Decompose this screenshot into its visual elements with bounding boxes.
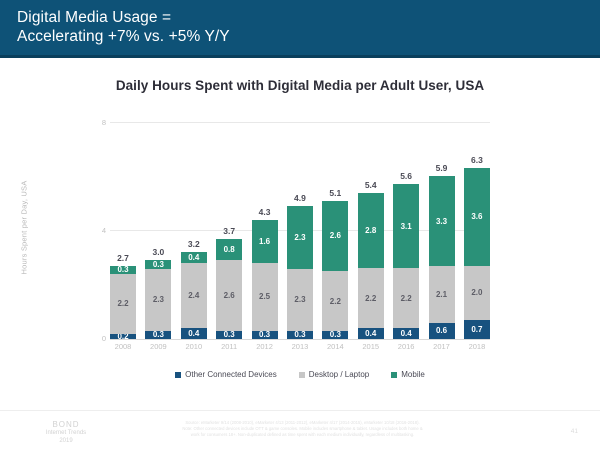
bar-column-2012[interactable]: 4.31.62.50.3 bbox=[252, 113, 278, 339]
bar-segment-other[interactable]: 0.3 bbox=[216, 331, 242, 339]
x-axis-tick-2009: 2009 bbox=[145, 342, 171, 351]
bar-column-2011[interactable]: 3.70.82.60.3 bbox=[216, 113, 242, 339]
chart-plot-area: Hours Spent per Day, USA 8 4 0 2.70.32.2… bbox=[0, 113, 600, 363]
y-tick-4: 4 bbox=[88, 226, 106, 235]
segment-value-label: 3.3 bbox=[436, 217, 447, 226]
footer-divider bbox=[0, 410, 600, 411]
bar-segment-other[interactable]: 0.7 bbox=[464, 320, 490, 339]
segment-value-label: 0.6 bbox=[436, 326, 447, 335]
bar-segment-mobile[interactable]: 3.6 bbox=[464, 168, 490, 266]
segment-value-label: 2.8 bbox=[365, 226, 376, 235]
bar-segment-mobile[interactable]: 3.3 bbox=[429, 176, 455, 266]
bar-segment-other[interactable]: 0.3 bbox=[287, 331, 313, 339]
bar-segment-other[interactable]: 0.3 bbox=[322, 331, 348, 339]
brand-logo: BOND Internet Trends 2019 bbox=[14, 421, 118, 445]
segment-value-label: 0.3 bbox=[153, 331, 164, 339]
x-axis-tick-2014: 2014 bbox=[322, 342, 348, 351]
y-axis-label: Hours Spent per Day, USA bbox=[20, 168, 29, 288]
x-axis-tick-2017: 2017 bbox=[429, 342, 455, 351]
bar-column-2008[interactable]: 2.70.32.20.2 bbox=[110, 113, 136, 339]
page-number: 41 bbox=[571, 428, 578, 435]
segment-value-label: 2.5 bbox=[259, 292, 270, 301]
bar-segment-other[interactable]: 0.4 bbox=[181, 328, 207, 339]
slide-title: Digital Media Usage = Accelerating +7% v… bbox=[17, 8, 230, 46]
bar-segment-desktop[interactable]: 2.2 bbox=[393, 268, 419, 328]
note-line-2: work for consumers 18+. Non-duplicated d… bbox=[130, 432, 475, 438]
segment-value-label: 3.6 bbox=[471, 212, 482, 221]
bar-segment-desktop[interactable]: 2.6 bbox=[216, 260, 242, 331]
bar-total-label: 3.7 bbox=[208, 226, 250, 236]
bar-group: 2.70.32.20.23.00.32.30.33.20.42.40.43.70… bbox=[110, 113, 490, 339]
chart-title: Daily Hours Spent with Digital Media per… bbox=[0, 78, 600, 93]
bar-segment-desktop[interactable]: 2.4 bbox=[181, 263, 207, 328]
segment-value-label: 0.4 bbox=[188, 329, 199, 338]
bar-segment-mobile[interactable]: 3.1 bbox=[393, 184, 419, 268]
segment-value-label: 2.1 bbox=[436, 290, 447, 299]
x-axis-tick-2012: 2012 bbox=[252, 342, 278, 351]
y-tick-8: 8 bbox=[88, 118, 106, 127]
bar-segment-other[interactable]: 0.3 bbox=[252, 331, 278, 339]
bar-segment-desktop[interactable]: 2.3 bbox=[287, 269, 313, 331]
x-axis-tick-2013: 2013 bbox=[287, 342, 313, 351]
segment-value-label: 0.3 bbox=[224, 331, 235, 339]
bar-segment-other[interactable]: 0.3 bbox=[145, 331, 171, 339]
bar-column-2016[interactable]: 5.63.12.20.4 bbox=[393, 113, 419, 339]
segment-value-label: 0.3 bbox=[117, 266, 128, 274]
bar-column-2014[interactable]: 5.12.62.20.3 bbox=[322, 113, 348, 339]
legend-item-mobile[interactable]: Mobile bbox=[391, 370, 425, 379]
segment-value-label: 0.4 bbox=[188, 253, 199, 262]
legend-label: Other Connected Devices bbox=[185, 370, 277, 379]
legend-item-desktop-laptop[interactable]: Desktop / Laptop bbox=[299, 370, 369, 379]
segment-value-label: 1.6 bbox=[259, 237, 270, 246]
legend-swatch-icon bbox=[391, 372, 397, 378]
brand-subtitle: Internet Trends bbox=[14, 429, 118, 437]
segment-value-label: 2.2 bbox=[117, 299, 128, 308]
bar-column-2018[interactable]: 6.33.62.00.7 bbox=[464, 113, 490, 339]
legend-swatch-icon bbox=[175, 372, 181, 378]
bar-segment-desktop[interactable]: 2.1 bbox=[429, 266, 455, 323]
slide-header-band: Digital Media Usage = Accelerating +7% v… bbox=[0, 0, 600, 58]
x-axis-tick-2008: 2008 bbox=[110, 342, 136, 351]
bar-segment-mobile[interactable]: 0.3 bbox=[145, 260, 171, 268]
x-axis-tick-2011: 2011 bbox=[216, 342, 242, 351]
bar-segment-desktop[interactable]: 2.2 bbox=[110, 274, 136, 334]
bar-total-label: 4.3 bbox=[244, 207, 286, 217]
segment-value-label: 2.6 bbox=[224, 291, 235, 300]
bar-segment-mobile[interactable]: 0.3 bbox=[110, 266, 136, 274]
segment-value-label: 2.2 bbox=[365, 294, 376, 303]
legend-item-other-connected-devices[interactable]: Other Connected Devices bbox=[175, 370, 277, 379]
y-tick-0: 0 bbox=[88, 334, 106, 343]
bar-segment-other[interactable]: 0.4 bbox=[358, 328, 384, 339]
chart-legend: Other Connected DevicesDesktop / LaptopM… bbox=[0, 370, 600, 379]
segment-value-label: 0.3 bbox=[330, 331, 341, 339]
x-axis-tick-2015: 2015 bbox=[358, 342, 384, 351]
bar-segment-other[interactable]: 0.6 bbox=[429, 323, 455, 339]
segment-value-label: 0.4 bbox=[365, 329, 376, 338]
segment-value-label: 2.6 bbox=[330, 231, 341, 240]
x-axis-labels: 2008200920102011201220132014201520162017… bbox=[110, 342, 490, 351]
bar-column-2013[interactable]: 4.92.32.30.3 bbox=[287, 113, 313, 339]
segment-value-label: 0.8 bbox=[224, 245, 235, 254]
bar-segment-mobile[interactable]: 1.6 bbox=[252, 220, 278, 263]
bar-segment-desktop[interactable]: 2.5 bbox=[252, 263, 278, 331]
brand-year: 2019 bbox=[14, 437, 118, 445]
segment-value-label: 2.3 bbox=[294, 295, 305, 304]
bar-segment-desktop[interactable]: 2.2 bbox=[322, 271, 348, 331]
segment-value-label: 2.2 bbox=[330, 297, 341, 306]
segment-value-label: 2.3 bbox=[294, 233, 305, 242]
source-note: Source: eMarketer 9/14 (2008-2010), eMar… bbox=[130, 420, 475, 438]
segment-value-label: 2.0 bbox=[471, 288, 482, 297]
bar-segment-desktop[interactable]: 2.2 bbox=[358, 268, 384, 328]
legend-label: Mobile bbox=[401, 370, 425, 379]
legend-swatch-icon bbox=[299, 372, 305, 378]
bar-segment-other[interactable]: 0.4 bbox=[393, 328, 419, 339]
segment-value-label: 2.2 bbox=[401, 294, 412, 303]
bar-column-2017[interactable]: 5.93.32.10.6 bbox=[429, 113, 455, 339]
bar-segment-desktop[interactable]: 2.0 bbox=[464, 266, 490, 320]
segment-value-label: 0.4 bbox=[401, 329, 412, 338]
segment-value-label: 0.3 bbox=[153, 260, 164, 268]
segment-value-label: 0.7 bbox=[471, 325, 482, 334]
bar-segment-mobile[interactable]: 0.8 bbox=[216, 239, 242, 261]
brand-name: BOND bbox=[14, 421, 118, 429]
legend-label: Desktop / Laptop bbox=[309, 370, 369, 379]
bar-column-2009[interactable]: 3.00.32.30.3 bbox=[145, 113, 171, 339]
segment-value-label: 2.4 bbox=[188, 291, 199, 300]
segment-value-label: 0.3 bbox=[259, 331, 270, 339]
x-axis-tick-2010: 2010 bbox=[181, 342, 207, 351]
bar-segment-desktop[interactable]: 2.3 bbox=[145, 269, 171, 331]
bar-segment-mobile[interactable]: 2.6 bbox=[322, 201, 348, 272]
segment-value-label: 2.3 bbox=[153, 295, 164, 304]
bar-segment-mobile[interactable]: 2.8 bbox=[358, 193, 384, 269]
x-axis-tick-2016: 2016 bbox=[393, 342, 419, 351]
segment-value-label: 3.1 bbox=[401, 222, 412, 231]
bar-total-label: 6.3 bbox=[456, 155, 498, 165]
bar-column-2010[interactable]: 3.20.42.40.4 bbox=[181, 113, 207, 339]
bar-column-2015[interactable]: 5.42.82.20.4 bbox=[358, 113, 384, 339]
bar-segment-mobile[interactable]: 2.3 bbox=[287, 206, 313, 268]
segment-value-label: 0.3 bbox=[294, 331, 305, 339]
x-axis-line bbox=[110, 339, 490, 340]
bar-total-label: 3.2 bbox=[173, 239, 215, 249]
bar-segment-mobile[interactable]: 0.4 bbox=[181, 252, 207, 263]
x-axis-tick-2018: 2018 bbox=[464, 342, 490, 351]
